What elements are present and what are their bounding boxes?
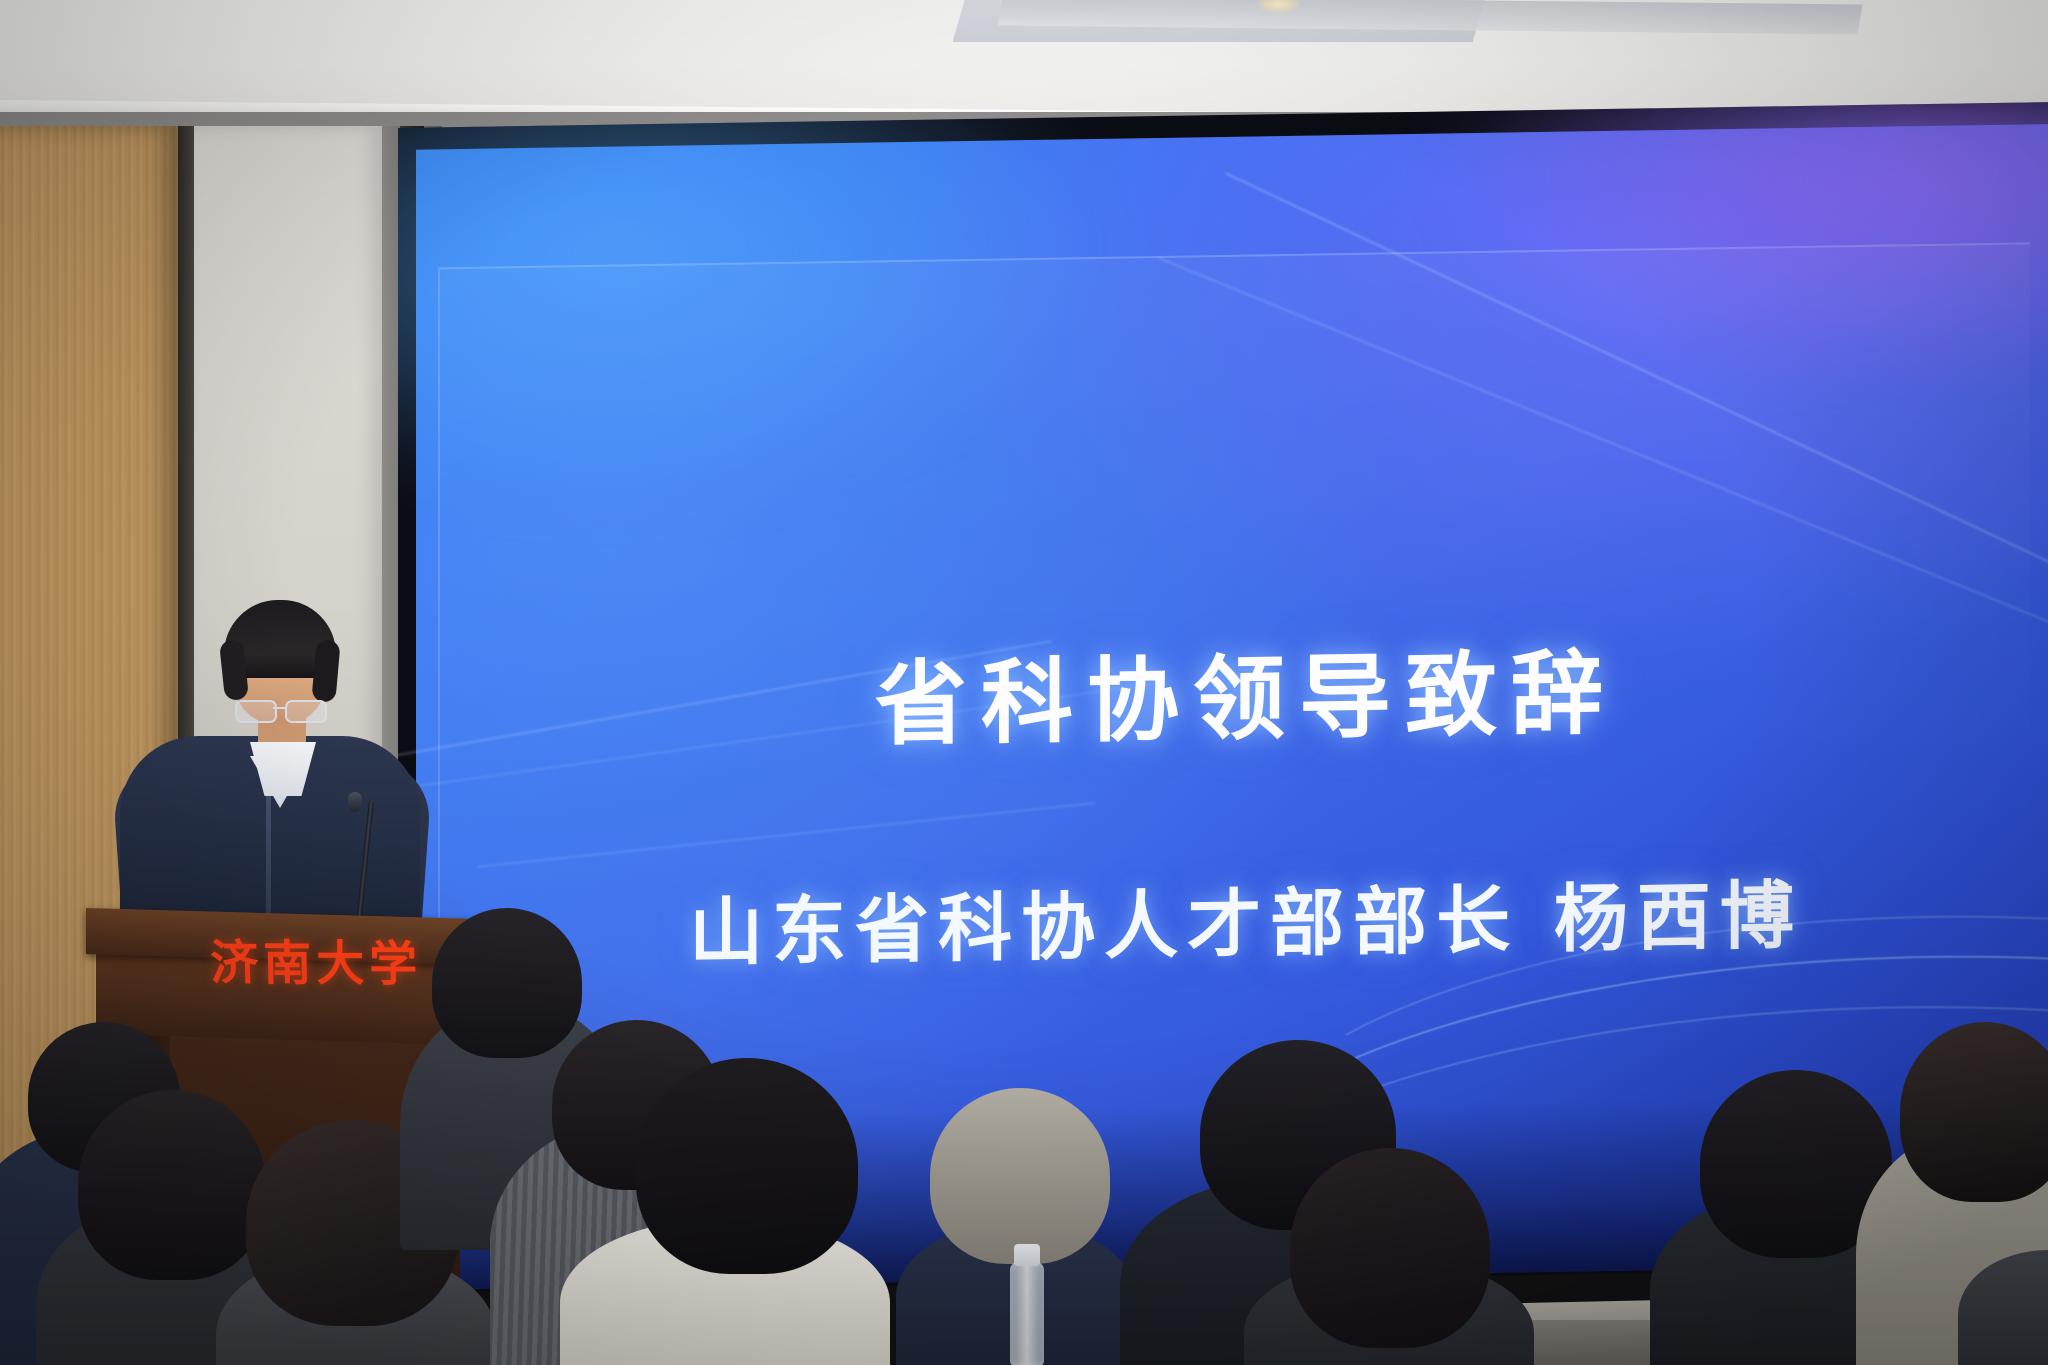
glasses-icon xyxy=(235,700,327,720)
glasses-lens-left xyxy=(235,700,277,723)
audience-head xyxy=(636,1058,858,1274)
water-bottle xyxy=(1010,1262,1044,1365)
audience-head xyxy=(432,908,582,1058)
water-bottle-cap xyxy=(1014,1244,1040,1266)
microphone-icon xyxy=(348,792,362,812)
audience-head xyxy=(930,1088,1110,1264)
glasses-lens-right xyxy=(285,700,327,723)
conference-photo: 省科协领导致辞 山东省科协人才部部长 杨西博 RSITY OF xyxy=(0,0,2048,1365)
audience-head xyxy=(78,1090,266,1280)
slide-title: 省科协领导致辞 xyxy=(416,612,2048,771)
podium-calligraphy: 济南大学 xyxy=(209,923,450,983)
audience-head xyxy=(1290,1148,1490,1348)
ceiling xyxy=(0,0,2048,118)
